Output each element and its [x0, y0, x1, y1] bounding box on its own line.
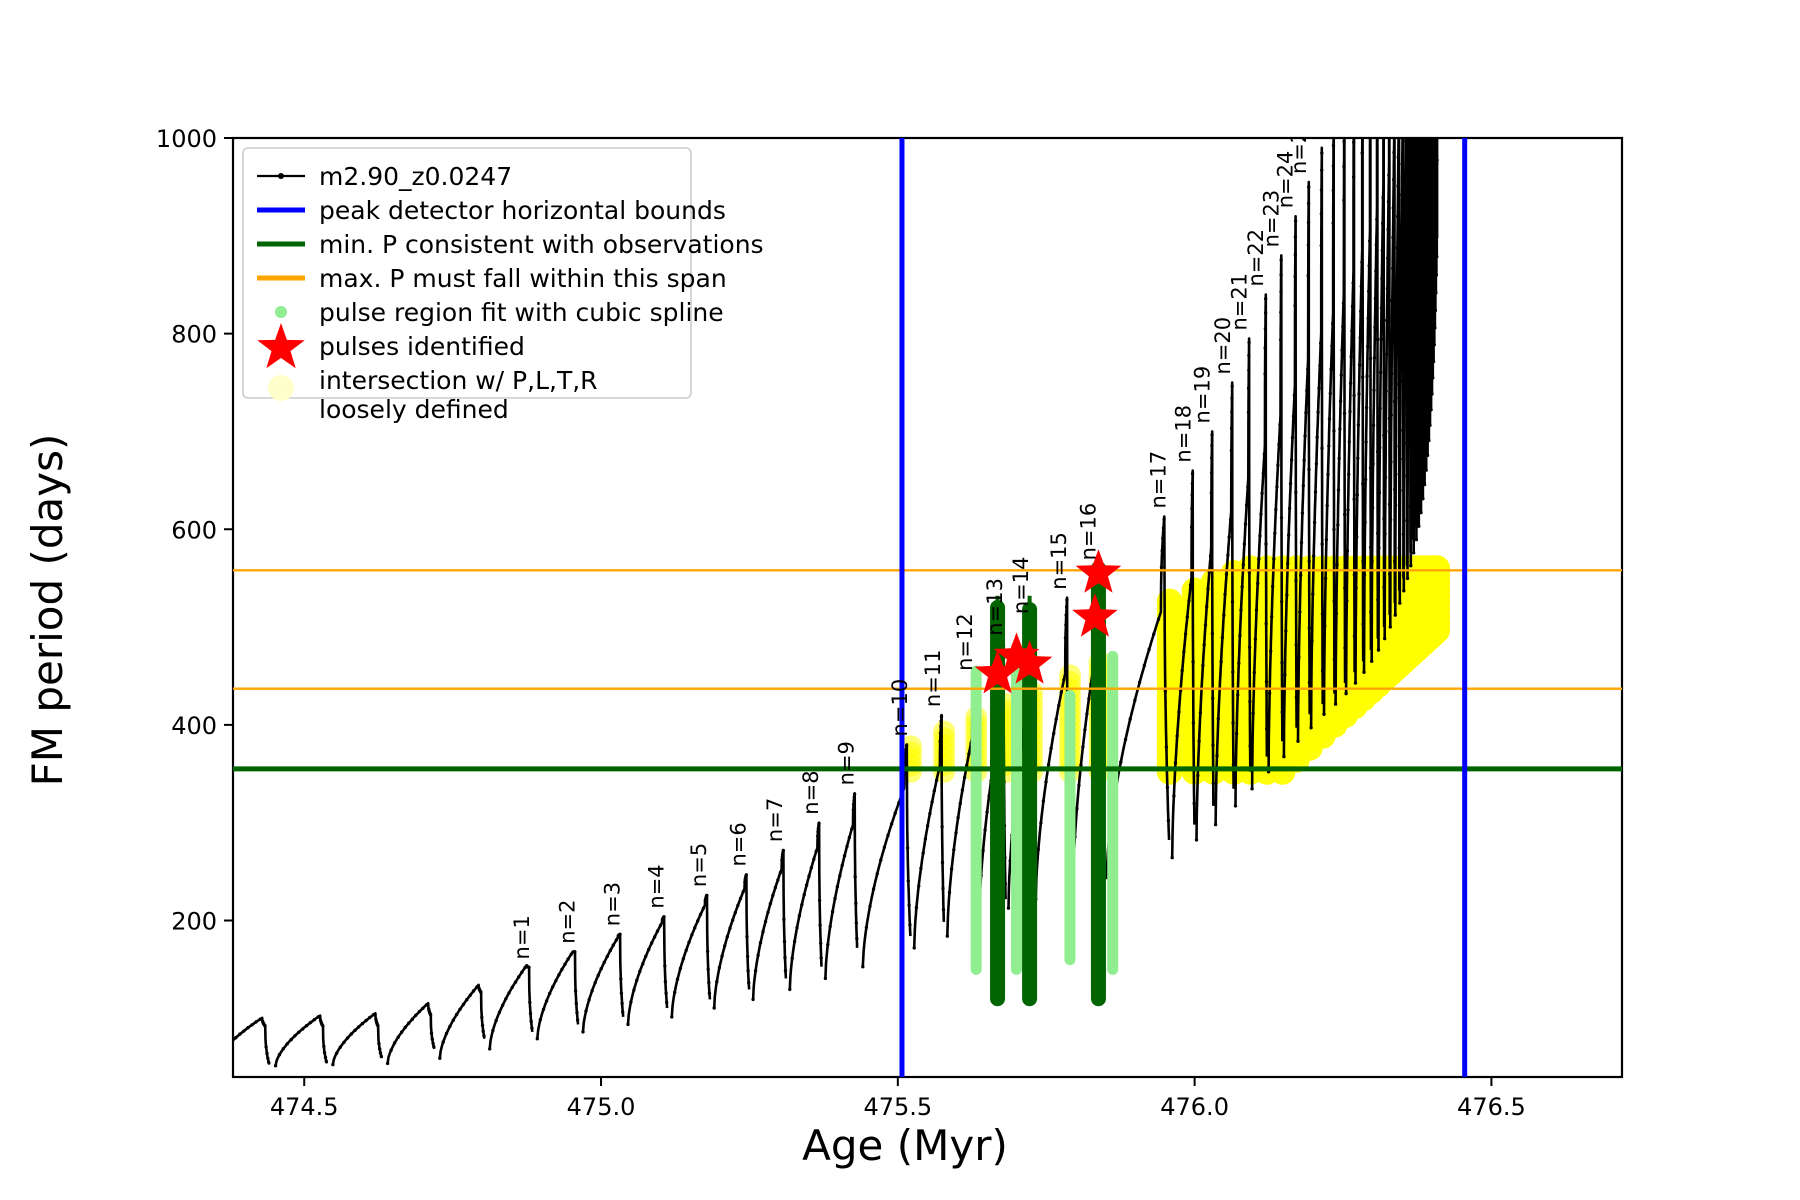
pulse-index-label: n=5	[687, 843, 711, 887]
intersection-marker	[1424, 555, 1450, 581]
pulse-index-label: n=13	[983, 578, 1007, 636]
pulse-index-label: n=4	[645, 864, 669, 908]
pulse-index-label: n=8	[799, 770, 823, 814]
pulse-index-label: n=17	[1147, 451, 1171, 509]
pulse-index-label: n=9	[834, 741, 858, 785]
x-tick-label: 475.0	[567, 1093, 636, 1121]
pulse-index-label: n=3	[601, 882, 625, 926]
x-tick-label: 474.5	[270, 1093, 339, 1121]
pulse-index-label: n=1	[510, 915, 534, 959]
y-axis-label: FM period (days)	[23, 434, 72, 787]
x-axis-label: Age (Myr)	[802, 1121, 1008, 1170]
pulse-index-label: n=12	[953, 613, 977, 671]
pulse-index-label: n=6	[726, 822, 750, 866]
legend-item-label[interactable]: pulses identified	[319, 332, 525, 361]
legend-bigdot-swatch	[268, 375, 294, 401]
pulse-index-label: n=11	[921, 649, 945, 707]
y-tick-label: 600	[171, 516, 217, 544]
legend-item-label[interactable]: pulse region fit with cubic spline	[319, 298, 724, 327]
legend-item-label[interactable]: intersection w/ P,L,T,R	[319, 366, 598, 395]
pulse-index-label: n=2	[555, 900, 579, 944]
x-tick-label: 475.5	[863, 1093, 932, 1121]
legend-dot-swatch	[278, 173, 284, 179]
pulse-index-label: n=7	[763, 798, 787, 842]
intersection-marker	[933, 721, 955, 743]
legend-item-label-cont[interactable]: loosely defined	[319, 395, 509, 424]
y-tick-label: 1000	[156, 125, 217, 153]
pulse-index-label: n=15	[1047, 532, 1071, 590]
figure-canvas: 474.5475.0475.5476.0476.5 20040060080010…	[0, 0, 1800, 1200]
y-tick-label: 200	[171, 908, 217, 936]
x-tick-label: 476.0	[1160, 1093, 1229, 1121]
y-tick-label: 400	[171, 712, 217, 740]
legend-item-label[interactable]: m2.90_z0.0247	[319, 162, 512, 191]
chart-svg: 474.5475.0475.5476.0476.5 20040060080010…	[0, 0, 1800, 1200]
pulse-index-label: n=14	[1009, 557, 1033, 615]
pulse-index-label: n=10	[888, 679, 912, 737]
legend-item-label[interactable]: peak detector horizontal bounds	[319, 196, 726, 225]
chart-legend[interactable]: m2.90_z0.0247peak detector horizontal bo…	[243, 148, 764, 424]
legend-item-label[interactable]: max. P must fall within this span	[319, 264, 727, 293]
x-tick-label: 476.5	[1457, 1093, 1526, 1121]
pulse-index-label: n=16	[1077, 503, 1101, 561]
y-tick-label: 800	[171, 321, 217, 349]
legend-item-label[interactable]: min. P consistent with observations	[319, 230, 764, 259]
legend-dot-swatch	[275, 306, 287, 318]
